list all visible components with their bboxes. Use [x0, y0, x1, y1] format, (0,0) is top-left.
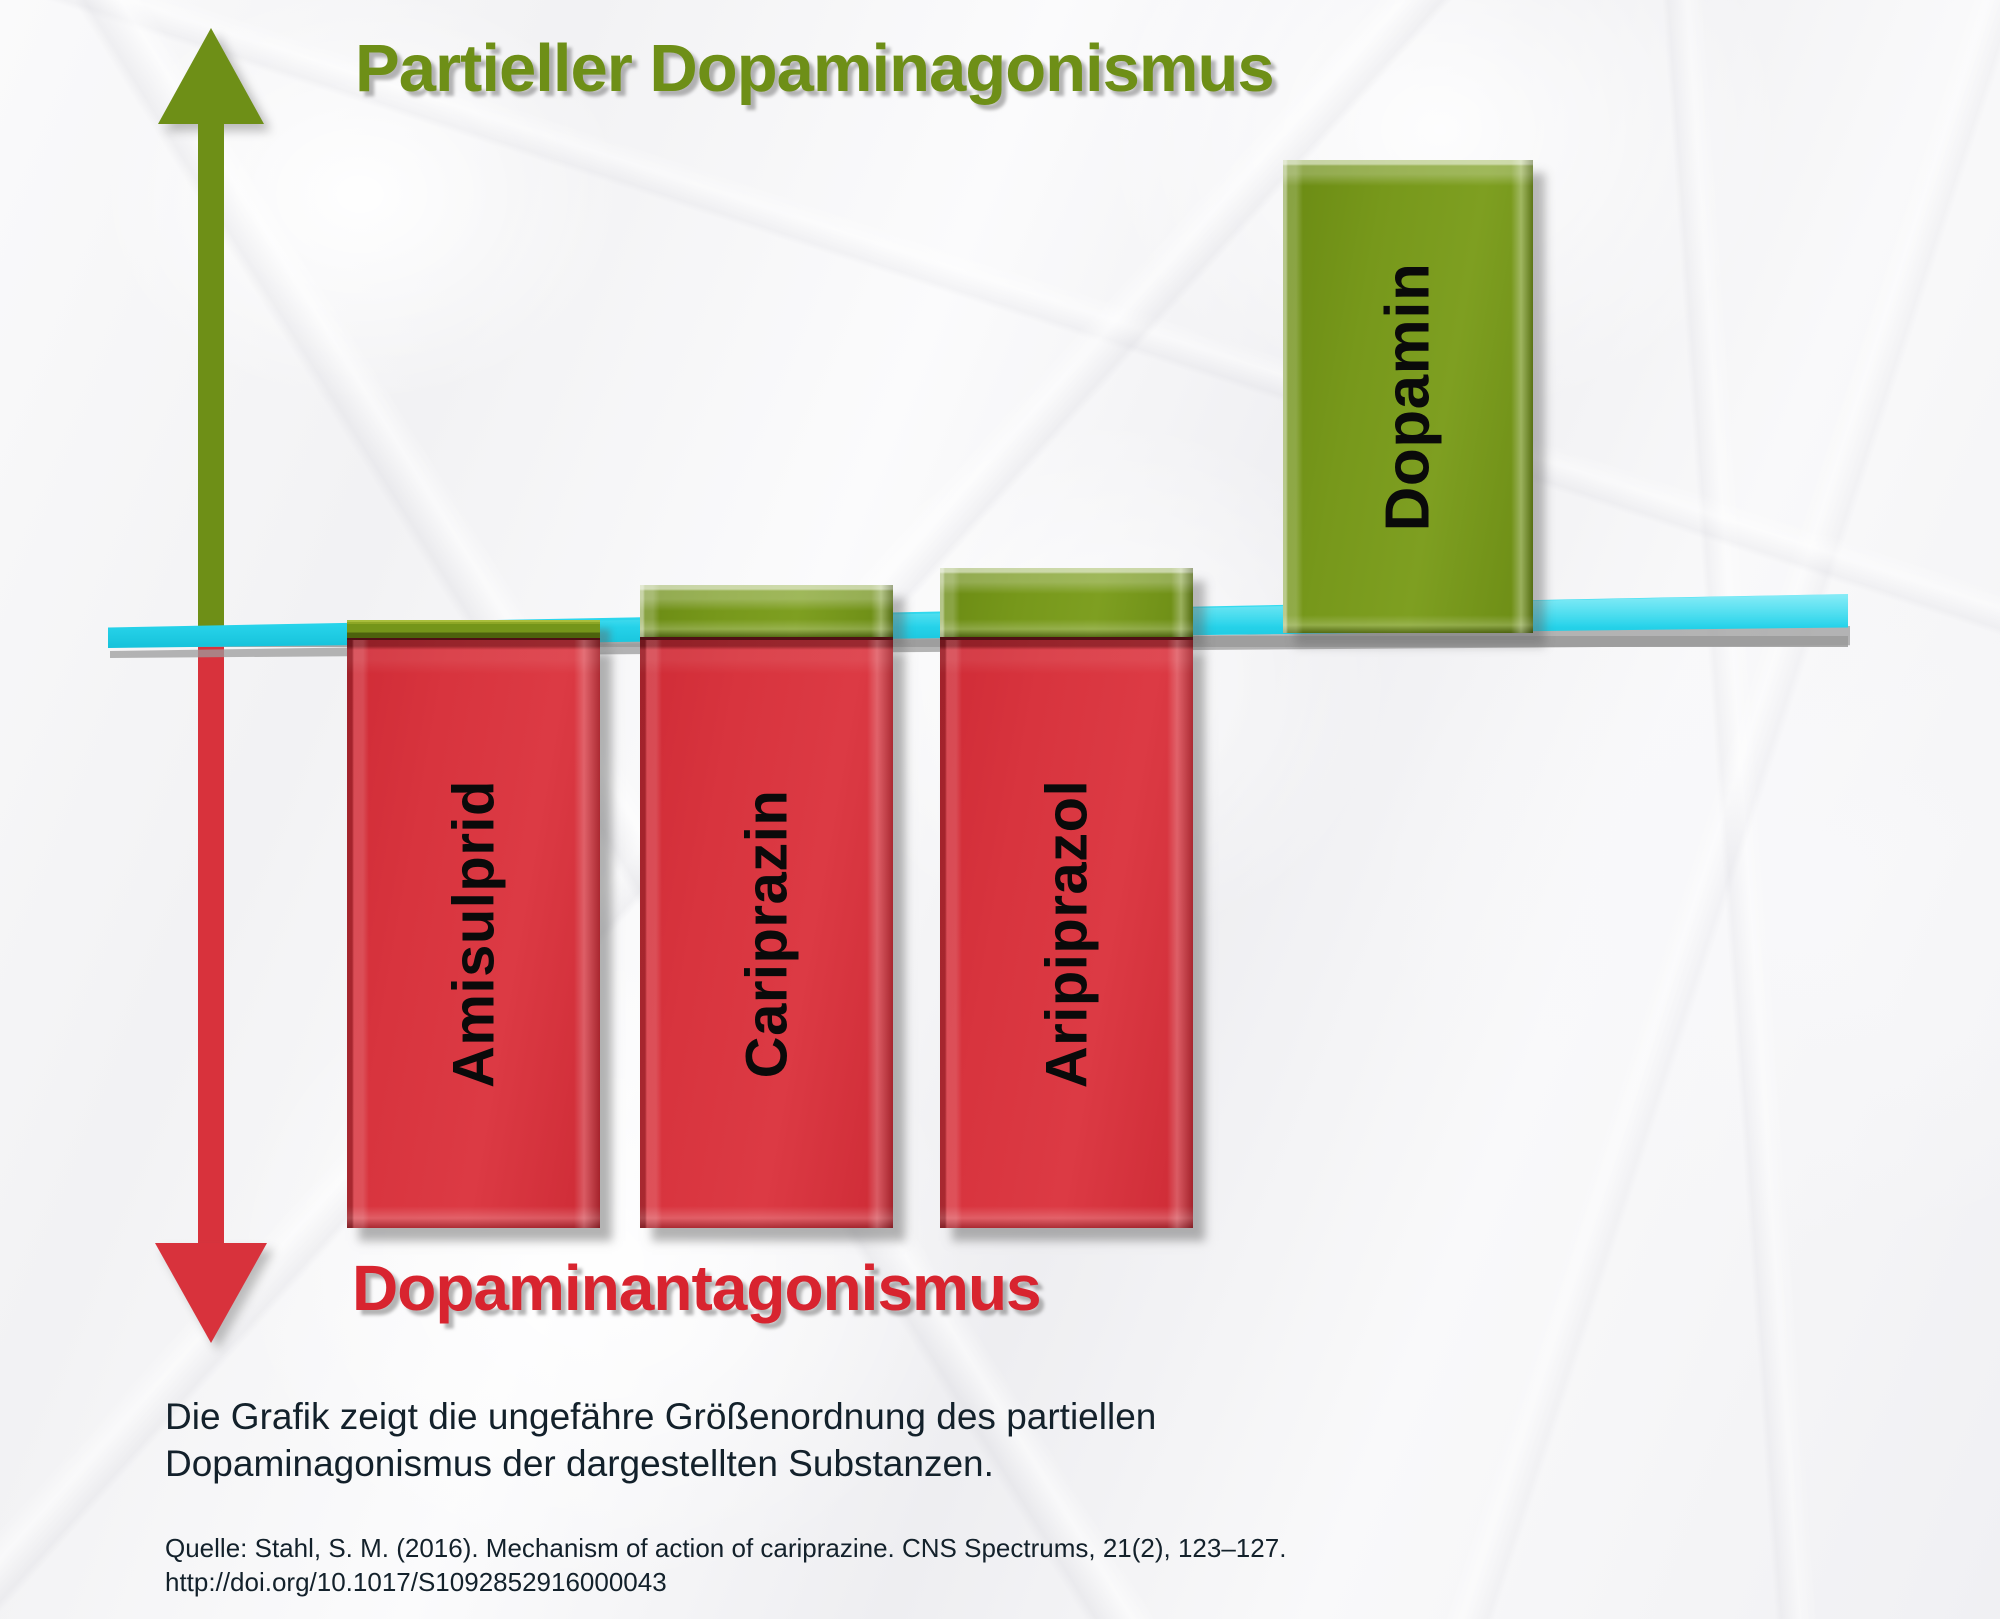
bar-cariprazin-antagonism-segment: Cariprazin: [640, 640, 893, 1228]
partial-agonism-up-arrow-head: [158, 28, 264, 124]
bar-label-aripiprazol: Aripiprazol: [1033, 780, 1100, 1088]
bar-label-dopamin: Dopamin: [1373, 262, 1444, 531]
chart-title-partial-agonism: Partieller Dopaminagonismus: [355, 30, 1274, 107]
bar-aripiprazol[interactable]: Aripiprazol: [940, 568, 1193, 1228]
source-citation-line-2[interactable]: http://doi.org/10.1017/S1092852916000043: [165, 1566, 1665, 1600]
bar-amisulprid-agonism-segment: [347, 620, 600, 638]
antagonism-down-arrow-shaft: [198, 632, 224, 1252]
chart-caption: Die Grafik zeigt die ungefähre Größenord…: [165, 1393, 1465, 1488]
bar-aripiprazol-antagonism-segment: Aripiprazol: [940, 640, 1193, 1228]
bar-dopamin-agonism-segment: Dopamin: [1283, 160, 1533, 633]
partial-agonism-up-arrow-shaft: [198, 118, 224, 638]
chart-caption-line-1: Die Grafik zeigt die ungefähre Größenord…: [165, 1393, 1465, 1440]
source-citation: Quelle: Stahl, S. M. (2016). Mechanism o…: [165, 1532, 1665, 1600]
antagonism-down-arrow-head: [155, 1243, 267, 1343]
bar-aripiprazol-agonism-segment: [940, 568, 1193, 637]
bar-label-cariprazin: Cariprazin: [733, 790, 800, 1079]
source-citation-line-1: Quelle: Stahl, S. M. (2016). Mechanism o…: [165, 1532, 1665, 1566]
chart-caption-line-2: Dopaminagonismus der dargestellten Subst…: [165, 1440, 1465, 1487]
chart-title-antagonism: Dopaminantagonismus: [352, 1251, 1041, 1325]
bar-amisulprid[interactable]: Amisulprid: [347, 620, 600, 1228]
bar-cariprazin-agonism-segment: [640, 585, 893, 637]
bar-dopamin[interactable]: Dopamin: [1283, 160, 1533, 633]
bar-amisulprid-antagonism-segment: Amisulprid: [347, 640, 600, 1228]
bar-label-amisulprid: Amisulprid: [440, 780, 507, 1088]
bar-cariprazin[interactable]: Cariprazin: [640, 585, 893, 1228]
